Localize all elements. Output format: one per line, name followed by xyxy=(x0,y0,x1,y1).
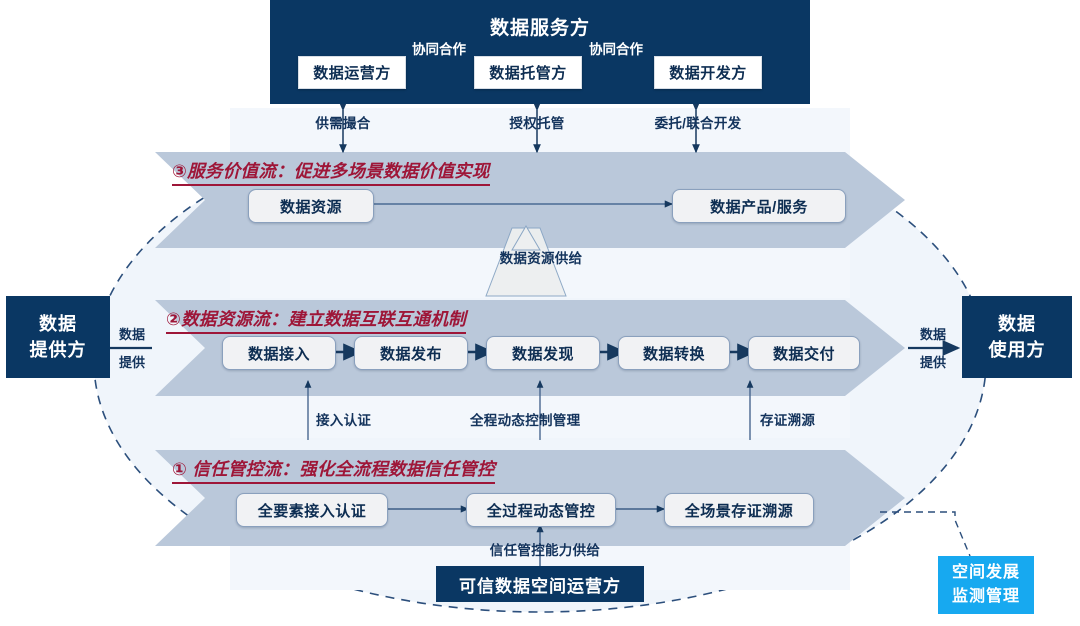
callout-leader xyxy=(880,512,970,556)
flow-box-data-resource[interactable]: 数据资源 xyxy=(248,189,374,223)
flow-box-data-delivery[interactable]: 数据交付 xyxy=(748,336,860,370)
flow-box-full-scenario-evidence[interactable]: 全场景存证溯源 xyxy=(664,493,814,527)
service-provider-panel-title: 数据服务方 xyxy=(270,12,810,40)
up-link-label-1: 接入认证 xyxy=(316,409,371,430)
panel-flow-link-label-3: 委托/联合开发 xyxy=(636,112,760,132)
flow-heading-service-value: ③服务价值流：促进多场景数据价值实现 xyxy=(172,158,490,186)
flow-box-data-transform[interactable]: 数据转换 xyxy=(618,336,730,370)
flow-box-data-access[interactable]: 数据接入 xyxy=(222,336,336,370)
panel-flow-link-label-2: 授权托管 xyxy=(482,112,592,132)
operator-box[interactable]: 可信数据空间运营方 xyxy=(436,566,644,602)
left-actor-data-provider[interactable]: 数据 提供方 xyxy=(6,296,110,378)
panel-link-label-1: 协同合作 xyxy=(404,38,474,58)
left-connector-label-bottom: 提供 xyxy=(110,350,154,372)
supply-label: 数据资源供给 xyxy=(466,247,616,267)
role-box-data-custodian[interactable]: 数据托管方 xyxy=(474,56,582,89)
flow-box-data-publish[interactable]: 数据发布 xyxy=(354,336,468,370)
up-link-label-2: 全程动态控制管理 xyxy=(470,409,580,430)
role-box-data-developer[interactable]: 数据开发方 xyxy=(654,56,762,89)
flow-box-full-element-auth[interactable]: 全要素接入认证 xyxy=(236,493,388,527)
diagram-canvas: 数据服务方 数据运营方 数据托管方 数据开发方 协同合作 协同合作 供需撮合 授… xyxy=(0,0,1080,626)
flow-heading-data-resource: ②数据资源流：建立数据互联互通机制 xyxy=(166,306,466,334)
flow-box-data-product-service[interactable]: 数据产品/服务 xyxy=(672,189,846,223)
flow-heading-trust-control: ① 信任管控流：强化全流程数据信任管控 xyxy=(172,456,495,484)
role-box-data-operator[interactable]: 数据运营方 xyxy=(298,56,406,89)
trust-supply-label: 信任管控能力供给 xyxy=(460,539,630,559)
right-actor-data-consumer[interactable]: 数据 使用方 xyxy=(962,296,1072,378)
panel-flow-link-label-1: 供需撮合 xyxy=(288,112,398,132)
right-connector-label-top: 数据 xyxy=(908,322,958,344)
left-connector-label-top: 数据 xyxy=(110,322,154,344)
callout-space-development-monitoring[interactable]: 空间发展 监测管理 xyxy=(938,556,1034,614)
panel-link-label-2: 协同合作 xyxy=(578,38,654,58)
up-link-label-3: 存证溯源 xyxy=(760,409,815,430)
right-connector-label-bottom: 提供 xyxy=(908,350,958,372)
flow-box-data-discover[interactable]: 数据发现 xyxy=(486,336,600,370)
flow-box-full-process-control[interactable]: 全过程动态管控 xyxy=(466,493,616,527)
